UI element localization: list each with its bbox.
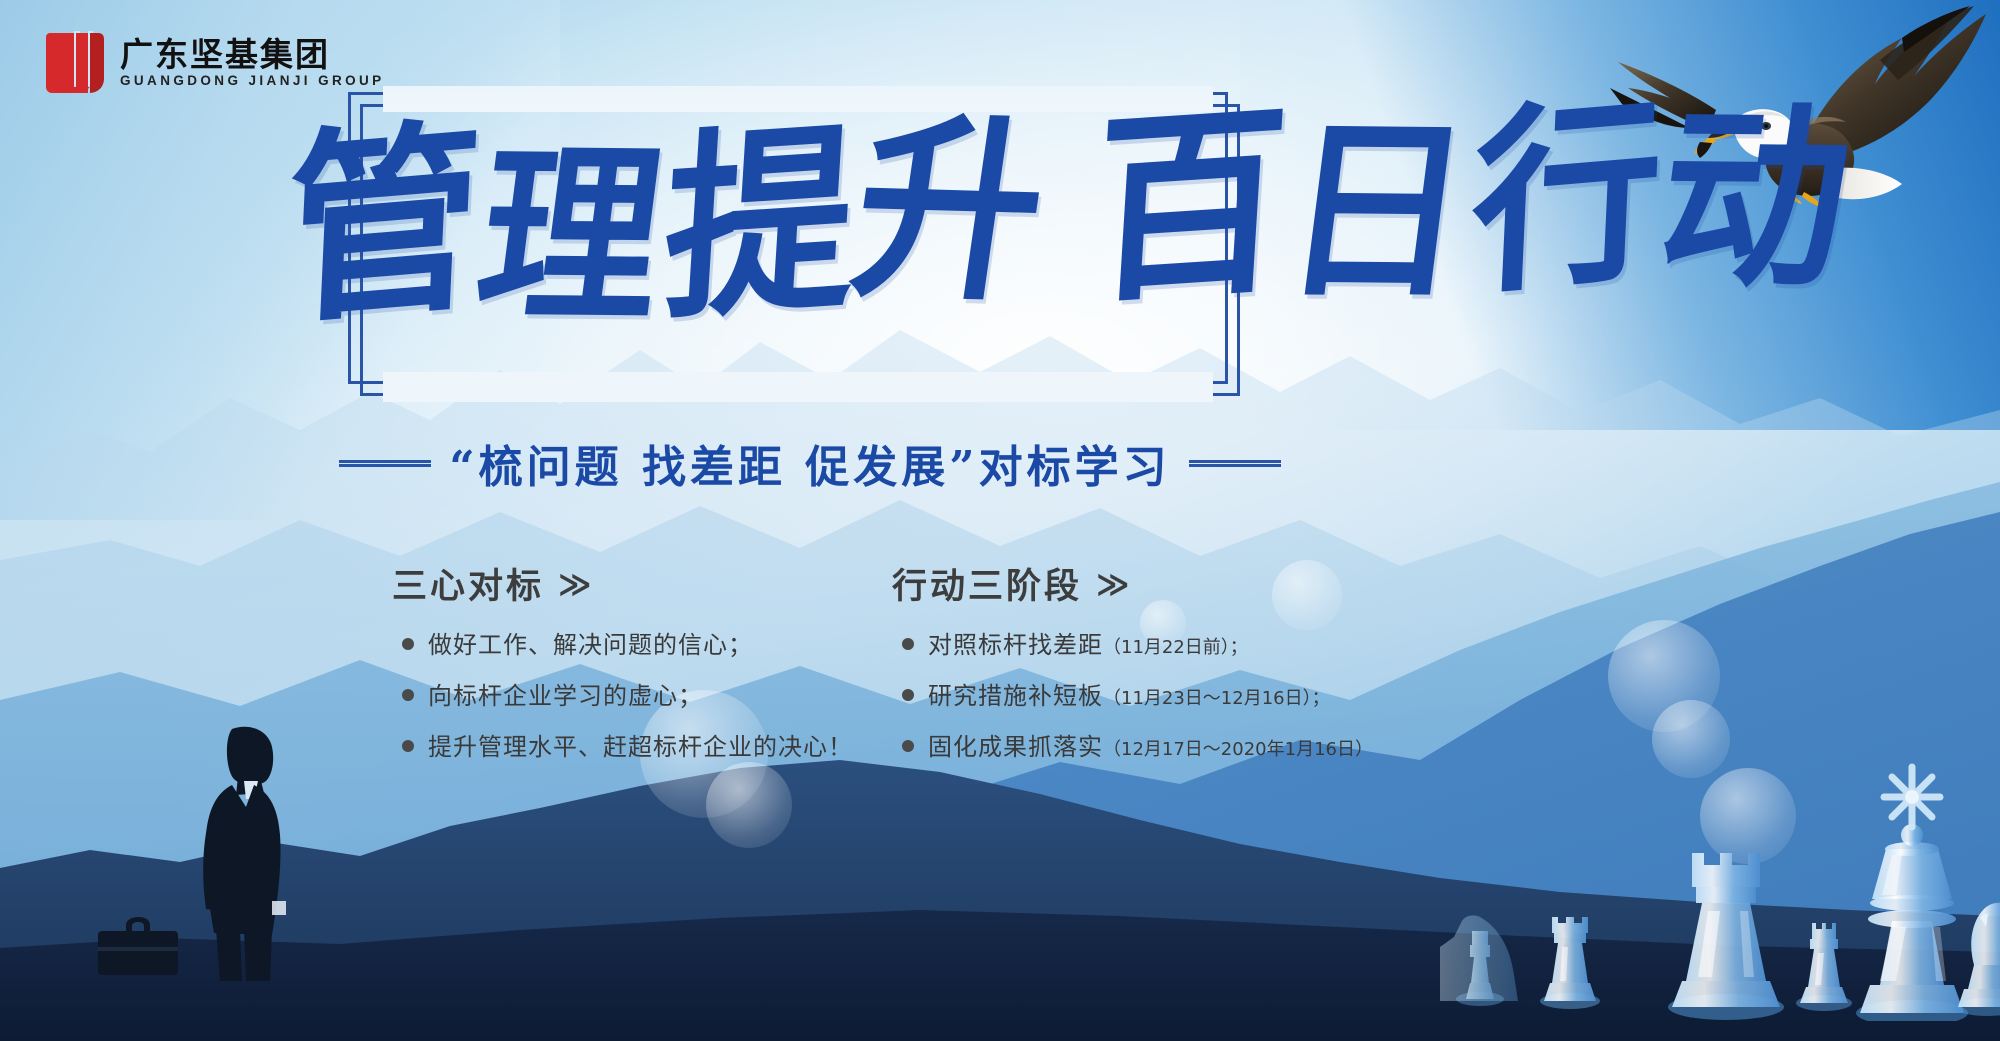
brand-logo[interactable]: 广东坚基集团 GUANGDONG JIANJI GROUP bbox=[46, 33, 385, 93]
list-item: 做好工作、解决问题的信心； bbox=[402, 625, 862, 660]
bullet-list-three-hearts: 做好工作、解决问题的信心； 向标杆企业学习的虚心； 提升管理水平、赶超标杆企业的… bbox=[392, 625, 862, 762]
briefcase-silhouette bbox=[96, 917, 180, 981]
column-heading-three-hearts: 三心对标 ≫ bbox=[392, 558, 862, 609]
brand-name-en: GUANGDONG JIANJI GROUP bbox=[120, 74, 385, 88]
list-item: 提升管理水平、赶超标杆企业的决心！ bbox=[402, 727, 862, 762]
bullet-dot-icon bbox=[902, 689, 914, 701]
bullet-dot-icon bbox=[902, 740, 914, 752]
list-item-text: 提升管理水平、赶超标杆企业的决心！ bbox=[428, 727, 853, 762]
column-three-hearts: 三心对标 ≫ 做好工作、解决问题的信心； 向标杆企业学习的虚心； 提升管理水平、… bbox=[392, 558, 862, 762]
column-three-phases: 行动三阶段 ≫ 对照标杆找差距（11月22日前）； 研究措施补短板（11月23日… bbox=[892, 558, 1412, 762]
hero-title-wrap: 管理提升百日行动 bbox=[290, 140, 1320, 400]
banner-canvas: 广东坚基集团 GUANGDONG JIANJI GROUP 管理提升百日行动 “… bbox=[0, 0, 2000, 1041]
list-item-note: （12月17日～2020年1月16日） bbox=[1103, 739, 1373, 760]
list-item-text: 向标杆企业学习的虚心； bbox=[428, 676, 703, 711]
list-item: 对照标杆找差距（11月22日前）； bbox=[902, 625, 1412, 660]
bullet-dot-icon bbox=[402, 638, 414, 650]
hero-subtitle: “梳问题 找差距 促发展”对标学习 bbox=[449, 431, 1170, 495]
bokeh-circle bbox=[1608, 620, 1720, 732]
list-item: 研究措施补短板（11月23日～12月16日）； bbox=[902, 676, 1412, 711]
chevron-double-right-icon: ≫ bbox=[558, 568, 592, 600]
chevron-double-right-icon: ≫ bbox=[1096, 568, 1130, 600]
glass-chess-pieces bbox=[1440, 731, 2000, 1021]
hero-subtitle-row: “梳问题 找差距 促发展”对标学习 bbox=[300, 432, 1320, 494]
bokeh-circle bbox=[706, 762, 792, 848]
subtitle-rule-right bbox=[1189, 460, 1281, 467]
list-item-note: （11月23日～12月16日）； bbox=[1103, 688, 1330, 709]
brand-logo-text: 广东坚基集团 GUANGDONG JIANJI GROUP bbox=[120, 38, 385, 88]
list-item-text: 对照标杆找差距 bbox=[928, 631, 1103, 659]
brand-name-cn: 广东坚基集团 bbox=[120, 38, 385, 71]
businessman-silhouette bbox=[186, 723, 296, 983]
list-item-text: 固化成果抓落实 bbox=[928, 733, 1103, 761]
bullet-list-three-phases: 对照标杆找差距（11月22日前）； 研究措施补短板（11月23日～12月16日）… bbox=[892, 625, 1412, 762]
list-item: 向标杆企业学习的虚心； bbox=[402, 676, 862, 711]
list-item-text: 研究措施补短板 bbox=[928, 682, 1103, 710]
subtitle-rule-left bbox=[339, 460, 431, 467]
column-heading-three-phases: 行动三阶段 ≫ bbox=[892, 558, 1412, 609]
column-heading-text: 三心对标 bbox=[392, 558, 544, 609]
bullet-dot-icon bbox=[402, 689, 414, 701]
hero-title: 管理提升百日行动 bbox=[281, 106, 1333, 332]
bullet-dot-icon bbox=[902, 638, 914, 650]
bullet-dot-icon bbox=[402, 740, 414, 752]
list-item-note: （11月22日前）； bbox=[1103, 637, 1248, 658]
jianji-logo-mark-icon bbox=[46, 33, 106, 93]
column-heading-text: 行动三阶段 bbox=[892, 558, 1082, 609]
list-item: 固化成果抓落实（12月17日～2020年1月16日） bbox=[902, 727, 1412, 762]
list-item-text: 做好工作、解决问题的信心； bbox=[428, 625, 753, 660]
